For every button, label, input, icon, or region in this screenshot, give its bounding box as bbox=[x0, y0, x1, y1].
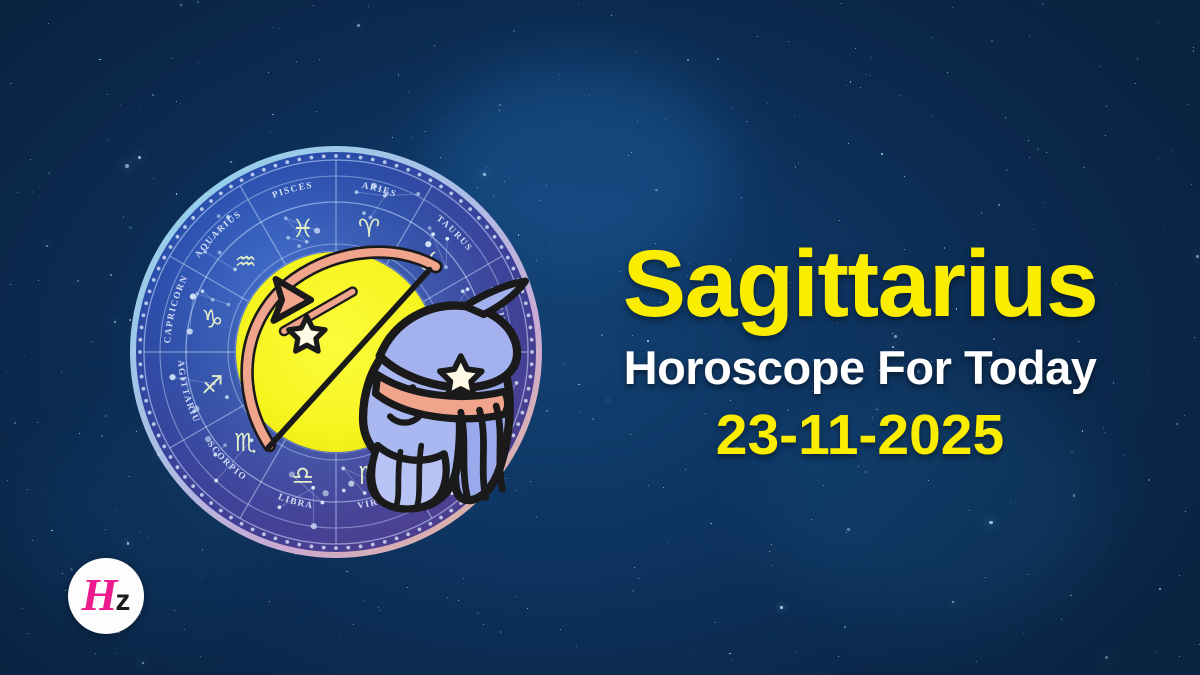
ring-bead bbox=[477, 216, 481, 220]
constellation-star bbox=[323, 490, 329, 496]
constellation-star bbox=[431, 232, 435, 236]
ring-bead bbox=[511, 267, 515, 271]
sign-glyph-scorpio: ♏ bbox=[234, 428, 256, 457]
ring-bead bbox=[418, 527, 422, 531]
constellation-star bbox=[225, 395, 229, 399]
ring-bead bbox=[200, 493, 204, 497]
ring-bead bbox=[527, 313, 531, 317]
ring-bead bbox=[359, 156, 363, 160]
ring-bead bbox=[506, 256, 510, 260]
ring-bead bbox=[524, 301, 528, 305]
ring-bead bbox=[310, 545, 314, 549]
constellation-star bbox=[217, 214, 221, 218]
ring-bead bbox=[322, 154, 326, 158]
sign-glyph-sagittarius: ♐ bbox=[201, 371, 223, 400]
ring-bead bbox=[152, 278, 156, 282]
ring-bead bbox=[383, 160, 387, 164]
ring-bead bbox=[157, 434, 161, 438]
ring-bead bbox=[169, 455, 173, 459]
ring-bead bbox=[162, 445, 166, 449]
ring-bead bbox=[219, 509, 223, 513]
ring-bead bbox=[406, 168, 410, 172]
ring-bead bbox=[530, 362, 534, 366]
brand-logo-icon[interactable]: H z bbox=[68, 558, 144, 634]
constellation-star bbox=[297, 244, 301, 248]
zodiac-wheel: ARIESTAURUSGEMINICANCERLEOVIRGOLIBRASCOR… bbox=[126, 142, 546, 562]
ring-bead bbox=[511, 434, 515, 438]
constellation-star bbox=[342, 489, 346, 493]
ring-bead bbox=[262, 532, 266, 536]
ring-bead bbox=[346, 154, 350, 158]
constellation-star bbox=[218, 251, 222, 255]
ring-bead bbox=[142, 313, 146, 317]
ring-bead bbox=[529, 326, 533, 330]
ring-bead bbox=[209, 501, 213, 505]
ring-bead bbox=[418, 173, 422, 177]
ring-bead bbox=[157, 267, 161, 271]
ring-bead bbox=[310, 156, 314, 160]
ring-bead bbox=[527, 387, 531, 391]
ring-bead bbox=[274, 164, 278, 168]
ring-bead bbox=[240, 522, 244, 526]
ring-bead bbox=[209, 199, 213, 203]
ring-bead bbox=[530, 350, 534, 354]
ring-bead bbox=[251, 527, 255, 531]
ring-bead bbox=[191, 216, 195, 220]
ring-bead bbox=[530, 338, 534, 342]
ring-bead bbox=[191, 484, 195, 488]
ring-bead bbox=[229, 516, 233, 520]
poster-canvas: ARIESTAURUSGEMINICANCERLEOVIRGOLIBRASCOR… bbox=[0, 0, 1200, 675]
ring-bead bbox=[262, 168, 266, 172]
ring-bead bbox=[251, 173, 255, 177]
ring-bead bbox=[169, 245, 173, 249]
sign-glyph-pisces: ♓ bbox=[292, 214, 314, 243]
sign-glyph-capricorn: ♑ bbox=[201, 304, 223, 333]
ring-bead bbox=[371, 158, 375, 162]
ring-bead bbox=[500, 245, 504, 249]
ring-bead bbox=[524, 399, 528, 403]
ring-bead bbox=[334, 154, 338, 158]
ring-bead bbox=[334, 546, 338, 550]
ring-bead bbox=[449, 509, 453, 513]
ring-bead bbox=[439, 516, 443, 520]
ring-bead bbox=[516, 422, 520, 426]
ring-bead bbox=[449, 192, 453, 196]
sign-glyph-libra: ♎ bbox=[292, 461, 314, 490]
constellation-star bbox=[205, 436, 211, 442]
ring-bead bbox=[459, 199, 463, 203]
ring-bead bbox=[285, 160, 289, 164]
page-title: Sagittarius bbox=[560, 236, 1160, 333]
ring-bead bbox=[485, 225, 489, 229]
ring-bead bbox=[240, 178, 244, 182]
page-subtitle: Horoscope For Today bbox=[560, 343, 1160, 392]
logo-letter-h: H bbox=[82, 572, 118, 618]
ring-bead bbox=[176, 235, 180, 239]
ring-bead bbox=[138, 362, 142, 366]
ring-bead bbox=[395, 537, 399, 541]
ring-bead bbox=[529, 375, 533, 379]
ring-bead bbox=[148, 411, 152, 415]
ring-bead bbox=[274, 537, 278, 541]
ring-bead bbox=[140, 326, 144, 330]
ring-bead bbox=[359, 545, 363, 549]
ring-bead bbox=[297, 158, 301, 162]
ring-bead bbox=[142, 387, 146, 391]
ring-bead bbox=[200, 207, 204, 211]
constellation-star bbox=[348, 481, 354, 487]
ring-bead bbox=[406, 532, 410, 536]
ring-bead bbox=[152, 422, 156, 426]
ring-bead bbox=[162, 256, 166, 260]
ring-bead bbox=[183, 475, 187, 479]
ring-bead bbox=[297, 543, 301, 547]
horoscope-date: 23-11-2025 bbox=[560, 406, 1160, 466]
ring-bead bbox=[322, 546, 326, 550]
ring-bead bbox=[493, 235, 497, 239]
ring-bead bbox=[285, 540, 289, 544]
ring-bead bbox=[140, 375, 144, 379]
ring-bead bbox=[429, 522, 433, 526]
ring-bead bbox=[138, 338, 142, 342]
ring-bead bbox=[148, 290, 152, 294]
ring-bead bbox=[138, 350, 142, 354]
sign-glyph-aries: ♈ bbox=[358, 214, 380, 243]
hero-text-block: Sagittarius Horoscope For Today 23-11-20… bbox=[560, 236, 1160, 466]
ring-bead bbox=[346, 546, 350, 550]
sign-glyph-aquarius: ♒ bbox=[234, 247, 256, 276]
ring-bead bbox=[229, 185, 233, 189]
ring-bead bbox=[395, 164, 399, 168]
ring-bead bbox=[219, 192, 223, 196]
ring-bead bbox=[429, 178, 433, 182]
ring-bead bbox=[144, 399, 148, 403]
ring-bead bbox=[439, 185, 443, 189]
ring-bead bbox=[521, 411, 525, 415]
ring-bead bbox=[183, 225, 187, 229]
ring-bead bbox=[144, 301, 148, 305]
ring-bead bbox=[383, 540, 387, 544]
ring-bead bbox=[468, 207, 472, 211]
ring-bead bbox=[371, 543, 375, 547]
ring-bead bbox=[176, 465, 180, 469]
logo-letter-z: z bbox=[115, 586, 130, 616]
